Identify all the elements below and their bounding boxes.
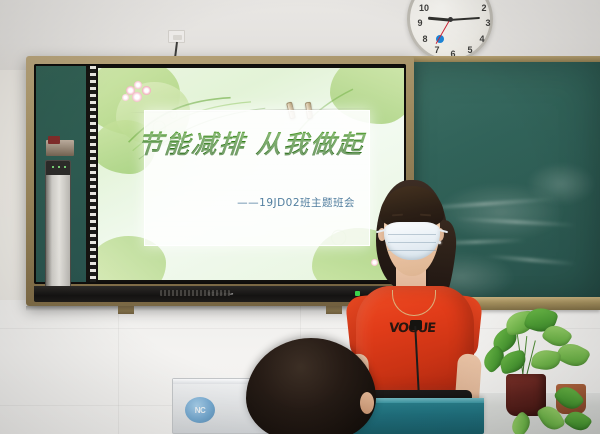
flower-decoration <box>132 92 142 102</box>
podium-logo: NC <box>185 397 215 423</box>
clock-number: 9 <box>414 17 426 29</box>
side-speaker-unit[interactable] <box>45 160 71 296</box>
flower-decoration <box>126 86 135 95</box>
clock-number: 4 <box>476 33 488 45</box>
seated-student <box>246 338 376 434</box>
smartboard-keypad[interactable] <box>160 290 230 296</box>
clock-number: 3 <box>482 17 494 29</box>
clock-number: 5 <box>464 44 476 56</box>
clock-center-pin <box>448 17 453 22</box>
clock-hour-hand <box>428 17 450 22</box>
clock-minute-hand <box>450 17 480 21</box>
lapel-microphone-icon <box>410 320 422 330</box>
student-ear <box>360 392 374 414</box>
slide-title: 节能减排 从我做起 <box>98 125 404 161</box>
board-clutter-small <box>48 136 60 144</box>
clock-number: 11 <box>430 0 442 1</box>
clock-number: 1 <box>466 0 478 1</box>
flower-decoration <box>134 81 142 89</box>
bezel-dot-strip <box>90 66 96 282</box>
flower-decoration <box>142 86 151 95</box>
clock-number: 10 <box>418 2 430 14</box>
student-head <box>246 338 376 434</box>
classroom-scene: 12 1 2 3 4 5 6 7 8 9 10 11 <box>0 0 600 434</box>
clock-number: 2 <box>478 2 490 14</box>
clock-number: 8 <box>419 33 431 45</box>
flower-decoration <box>122 94 129 101</box>
clock-number: 7 <box>431 44 443 56</box>
slide-subtitle: ——19JD02班主题班会 <box>237 195 355 210</box>
